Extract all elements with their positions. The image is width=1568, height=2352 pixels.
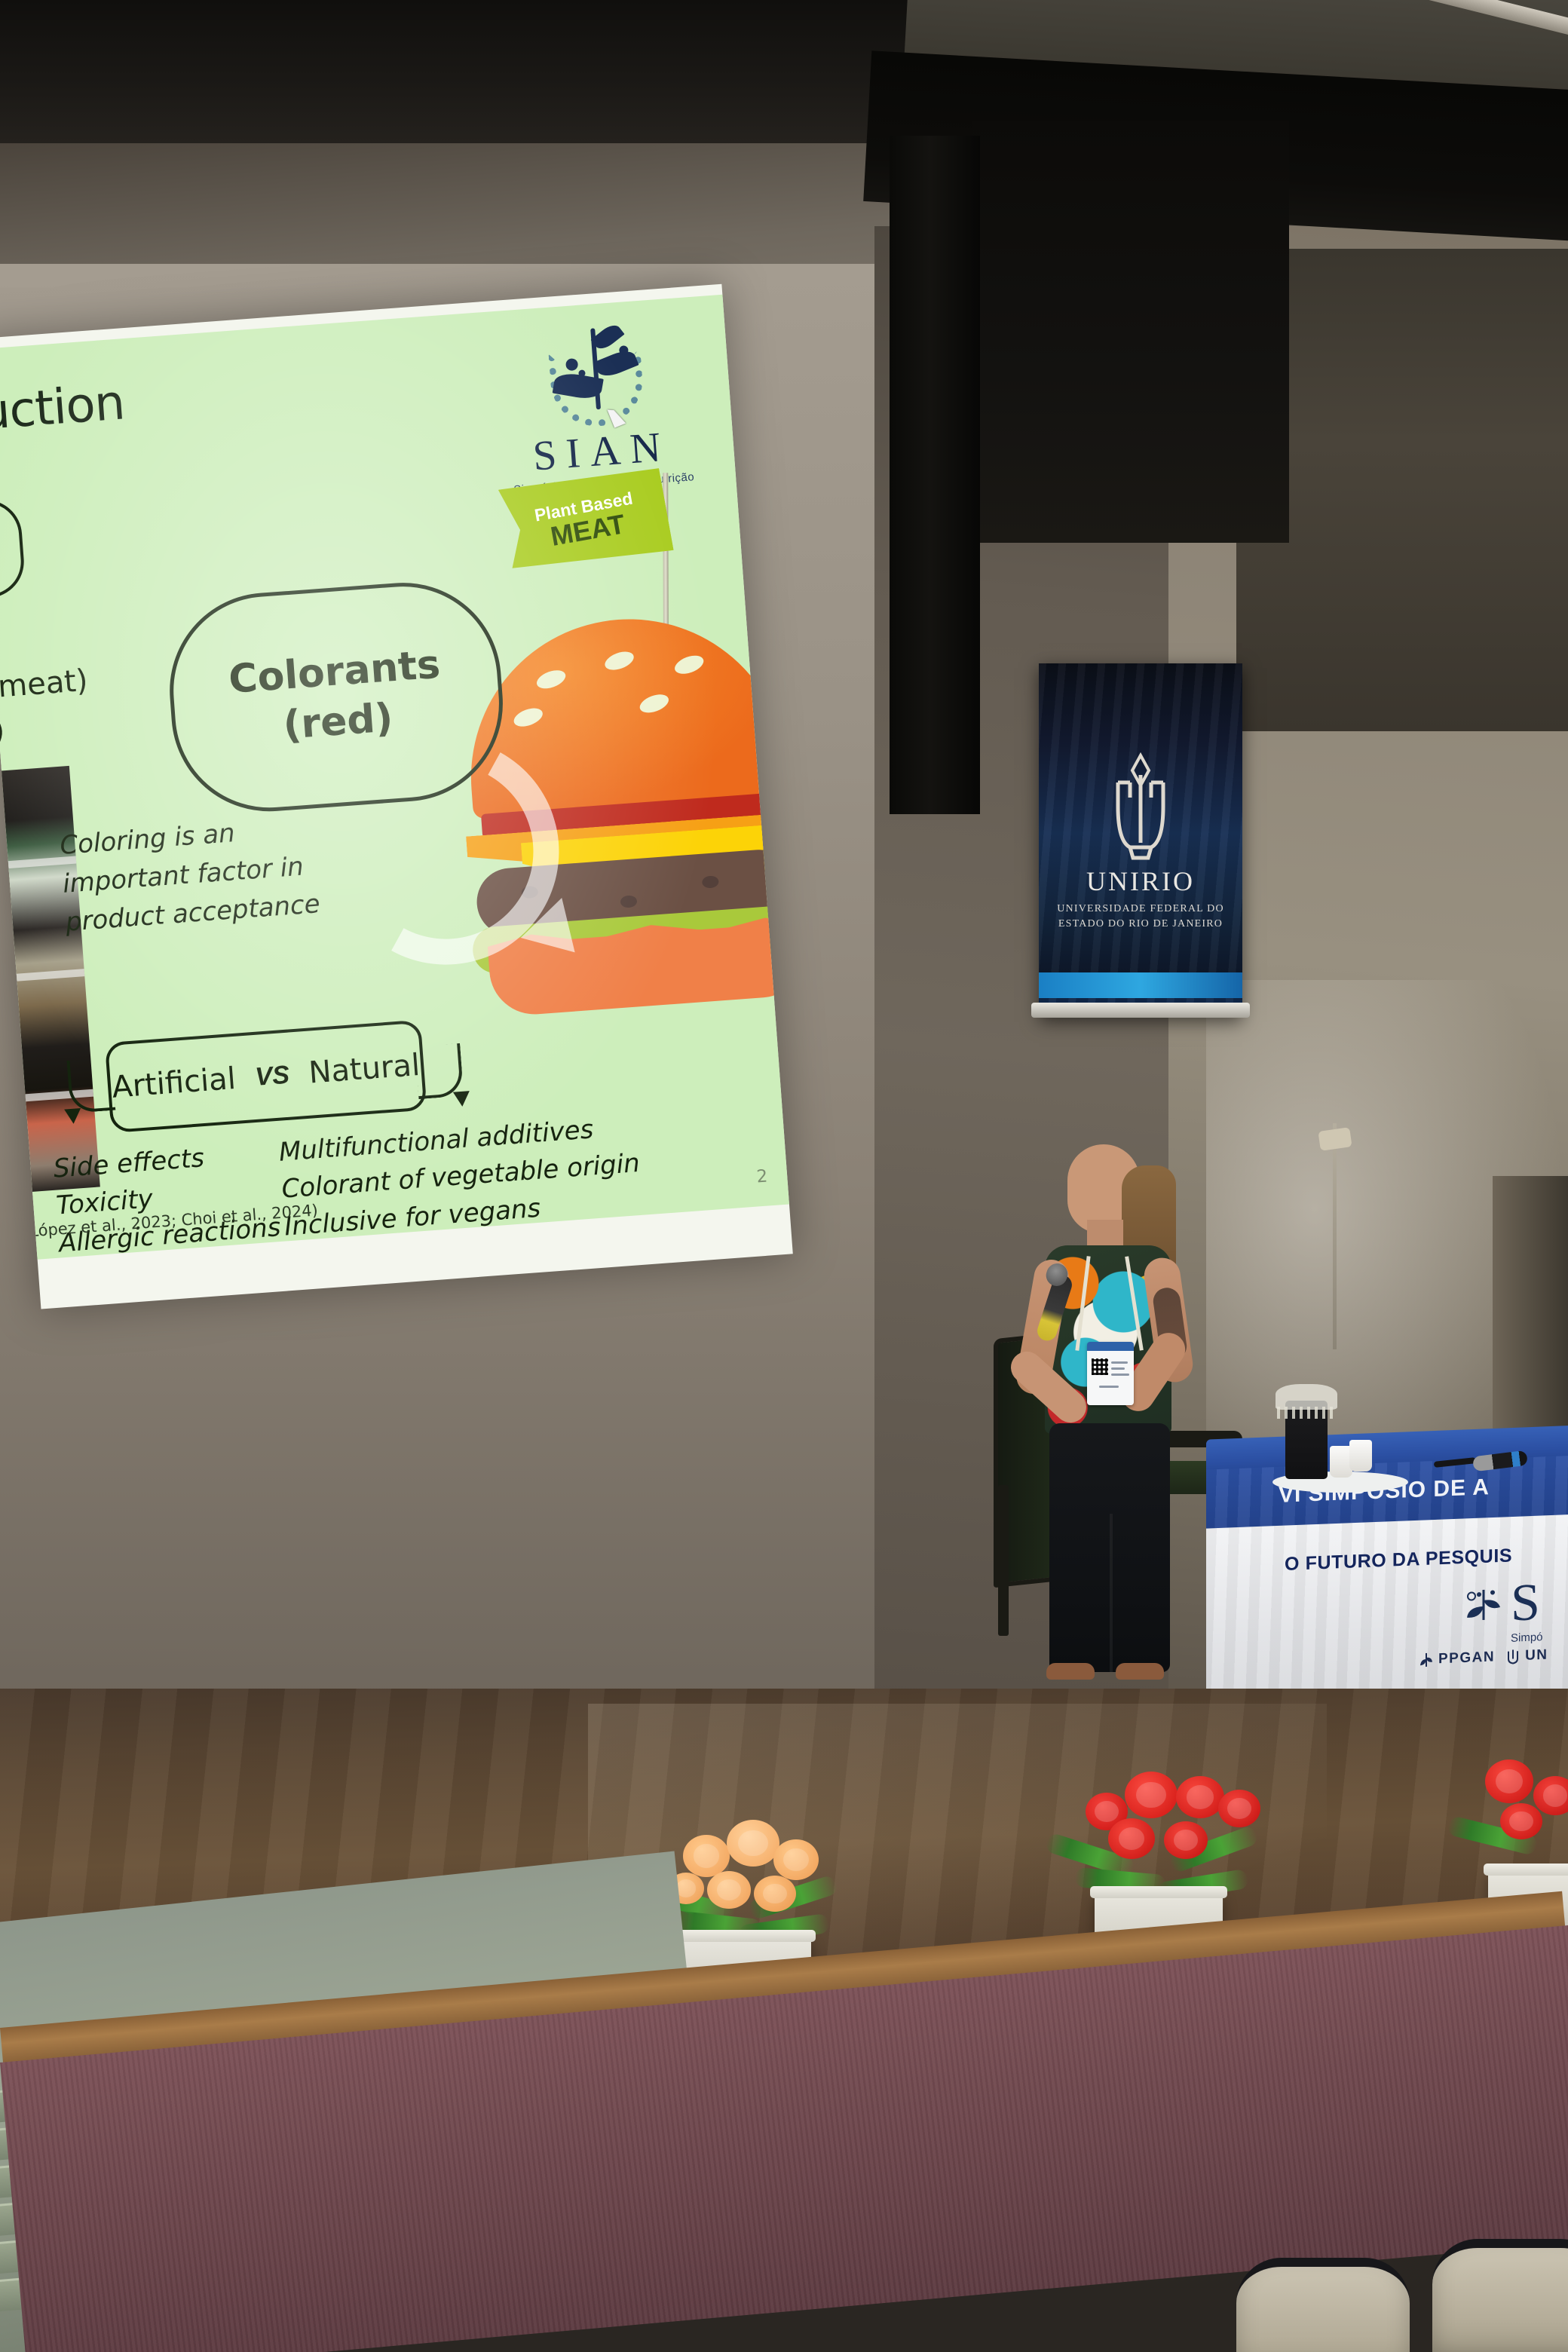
artificial-vs-natural-box: Artificial VS Natural — [105, 1020, 427, 1133]
slide-left-fragment-line2: ~38%) — [0, 703, 93, 760]
slide-title: troduction — [0, 375, 127, 448]
banner-stand-base — [1031, 1003, 1250, 1018]
sponsor-ppgan-label: PPGAN — [1438, 1649, 1495, 1668]
speaker — [1003, 1116, 1221, 1734]
table-sian-letter: S — [1511, 1579, 1540, 1627]
paper-cup — [1349, 1440, 1372, 1472]
auditorium-seat — [1432, 2239, 1568, 2352]
ppgan-mark-icon — [1419, 1652, 1434, 1669]
sian-plant-icon — [535, 315, 657, 436]
conference-badge — [1087, 1342, 1134, 1405]
slide-page-number: 2 — [756, 1167, 769, 1187]
natural-label: Natural — [308, 1048, 421, 1091]
unirio-banner: UNIRIO UNIVERSIDADE FEDERAL DO ESTADO DO… — [1039, 663, 1242, 1018]
natural-list: Multifunctional additives Colorant of ve… — [277, 1108, 644, 1245]
unirio-trident-icon — [1106, 752, 1175, 865]
vs-glyph: VS — [254, 1060, 290, 1092]
coloring-note: Coloring is an important factor in produ… — [59, 808, 322, 942]
sponsor-unirio: UN — [1505, 1647, 1548, 1665]
speaker-shoe-right — [1116, 1663, 1164, 1680]
table-sian-logo: S — [1462, 1579, 1540, 1629]
conference-photo-scene: troduction based meat) ~38%) — [0, 0, 1568, 2352]
table-sian-sublabel: Simpó — [1511, 1631, 1543, 1645]
artificial-list: Side effects Toxicity Allergic reactions — [52, 1135, 282, 1259]
badge-qr-icon — [1092, 1358, 1108, 1375]
colorants-line2: (red) — [282, 695, 395, 749]
unirio-mark-icon — [1505, 1648, 1521, 1665]
pitcher-lace-cover — [1276, 1384, 1337, 1410]
sponsor-ppgan: PPGAN — [1419, 1649, 1495, 1668]
presentation-slide: troduction based meat) ~38%) — [0, 295, 789, 1260]
sian-leaf-icon — [1462, 1582, 1505, 1626]
projection-screen: troduction based meat) ~38%) — [0, 284, 793, 1309]
stage-curtain-column — [890, 136, 980, 814]
sian-logo: SIAN Simpósio de Alimentos e Nutrição — [498, 312, 699, 497]
speaker-shoe-left — [1046, 1663, 1095, 1680]
wall-mic-stand — [1333, 1123, 1337, 1349]
unirio-subtitle-line1: UNIVERSIDADE FEDERAL DO — [1039, 902, 1242, 917]
colorants-line1: Colorants — [227, 642, 442, 703]
slide-left-fragment: based meat) ~38%) — [0, 659, 93, 760]
unirio-subtitle-line2: ESTADO DO RIO DE JANEIRO — [1039, 917, 1242, 932]
banner-blue-stripe — [1039, 972, 1242, 998]
unirio-wordmark: UNIRIO — [1039, 865, 1242, 897]
sponsor-unirio-label: UN — [1525, 1647, 1548, 1664]
speaker-trousers — [1049, 1423, 1170, 1672]
stage-curtain — [972, 121, 1289, 543]
auditorium-seat — [1236, 2258, 1410, 2352]
slide-shape-cropped-pill — [0, 498, 26, 602]
artificial-label: Artificial — [111, 1061, 237, 1105]
unirio-subtitle: UNIVERSIDADE FEDERAL DO ESTADO DO RIO DE… — [1039, 902, 1242, 933]
